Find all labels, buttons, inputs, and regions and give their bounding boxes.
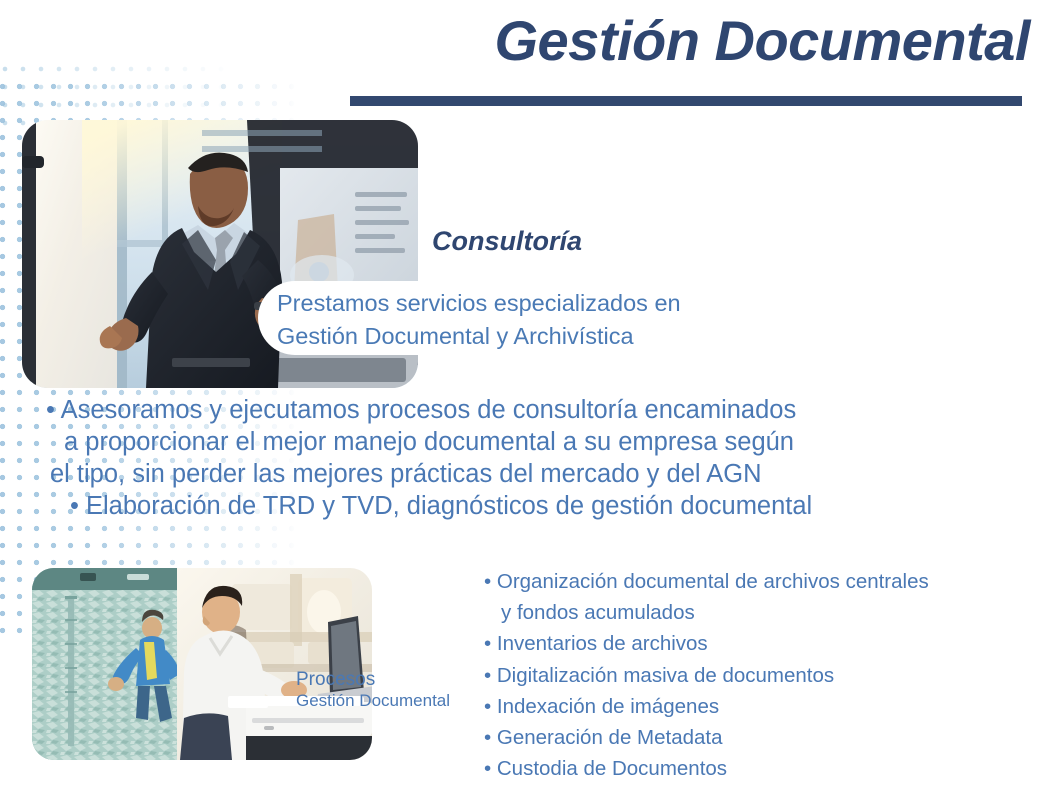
list-item: y fondos acumulados <box>501 597 1024 628</box>
procesos-photo-label: Procesos Gestión Documental <box>296 669 450 710</box>
consultoria-bullet-list: • Asesoramos y ejecutamos procesos de co… <box>42 394 962 522</box>
page-title: Gestión Documental <box>494 8 1030 73</box>
callout-line-1: Prestamos servicios especializados en <box>277 287 797 320</box>
consultoria-callout-text: Prestamos servicios especializados en Ge… <box>277 287 797 353</box>
slide-root: Gestión Documental <box>0 0 1052 812</box>
list-item: • Digitalización masiva de documentos <box>484 660 1024 691</box>
procesos-photo-pair <box>32 568 372 760</box>
procesos-label-line2: Gestión Documental <box>296 691 450 711</box>
procesos-bullet-list: • Organización documental de archivos ce… <box>484 566 1024 784</box>
list-item: • Custodia de Documentos <box>484 753 1024 784</box>
list-item: • Inventarios de archivos <box>484 628 1024 659</box>
procesos-label-line1: Procesos <box>296 669 450 691</box>
callout-line-2: Gestión Documental y Archivística <box>277 320 797 353</box>
bullet-line: • Elaboración de TRD y TVD, diagnósticos… <box>70 490 962 522</box>
list-item: • Organización documental de archivos ce… <box>484 566 1024 597</box>
list-item: • Generación de Metadata <box>484 722 1024 753</box>
bullet-line: • Asesoramos y ejecutamos procesos de co… <box>46 394 962 426</box>
bullet-line: el tipo, sin perder las mejores práctica… <box>50 458 962 490</box>
consultoria-heading: Consultoría <box>432 226 582 257</box>
bullet-line: a proporcionar el mejor manejo documenta… <box>64 426 962 458</box>
list-item: • Indexación de imágenes <box>484 691 1024 722</box>
title-underline-rule <box>350 96 1022 106</box>
